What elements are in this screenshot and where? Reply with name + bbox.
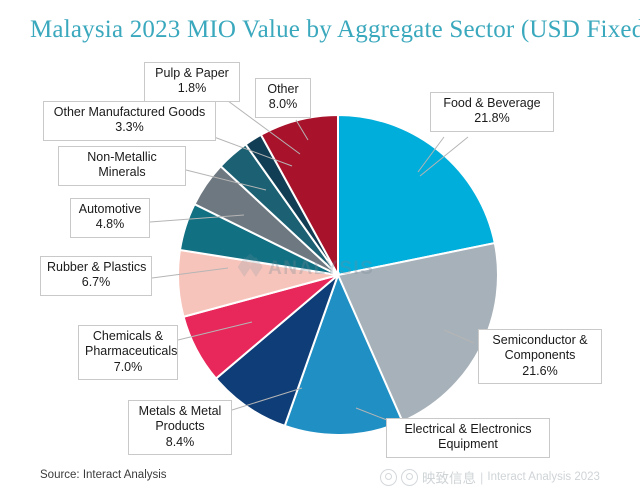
callout-rubber[interactable]: Rubber & Plastics 6.7% [40,256,152,296]
pie-chart [175,112,501,438]
callout-pulp-paper[interactable]: Pulp & Paper 1.8% [144,62,240,102]
callout-rubber-percent: 6.7% [47,275,145,290]
callout-semiconductor-label-line1: Semiconductor & [485,333,595,348]
callout-other-label: Other [262,82,304,97]
callout-metals-percent: 8.4% [135,435,225,450]
callout-non-metallic-label-line1: Non-Metallic [65,150,179,165]
callout-electrical-label-line2: Equipment [393,437,543,452]
callout-metals-label-line1: Metals & Metal [135,404,225,419]
callout-chemicals[interactable]: Chemicals & Pharmaceuticals 7.0% [78,325,178,380]
callout-non-metallic[interactable]: Non-Metallic Minerals [58,146,186,186]
callout-automotive-label: Automotive [77,202,143,217]
callout-other[interactable]: Other 8.0% [255,78,311,118]
footer-watermark-separator: | [480,470,483,485]
callout-other-percent: 8.0% [262,97,304,112]
callout-semiconductor[interactable]: Semiconductor & Components 21.6% [478,329,602,384]
page-title: Malaysia 2023 MIO Value by Aggregate Sec… [30,16,640,44]
callout-chemicals-percent: 7.0% [85,360,171,375]
callout-pulp-paper-percent: 1.8% [151,81,233,96]
footer-watermark-cn: 映致信息 [422,467,476,487]
pie-chart-svg [175,112,501,438]
callout-metals-label-line2: Products [135,419,225,434]
callout-chemicals-label-line1: Chemicals & [85,329,171,344]
pie-chart-figure: Malaysia 2023 MIO Value by Aggregate Sec… [0,0,640,497]
callout-other-manufactured[interactable]: Other Manufactured Goods 3.3% [43,101,216,141]
callout-other-manufactured-percent: 3.3% [50,120,209,135]
callout-non-metallic-label-line2: Minerals [65,165,179,180]
paw-badge-icon [380,469,397,486]
callout-electrical-label-line1: Electrical & Electronics [393,422,543,437]
callout-food-beverage[interactable]: Food & Beverage 21.8% [430,92,554,132]
callout-semiconductor-percent: 21.6% [485,364,595,379]
callout-metals[interactable]: Metals & Metal Products 8.4% [128,400,232,455]
callout-automotive[interactable]: Automotive 4.8% [70,198,150,238]
callout-electrical[interactable]: Electrical & Electronics Equipment [386,418,550,458]
callout-chemicals-label-line2: Pharmaceuticals [85,344,171,359]
callout-automotive-percent: 4.8% [77,217,143,232]
pie-slices [178,115,498,435]
callout-pulp-paper-label: Pulp & Paper [151,66,233,81]
source-note: Source: Interact Analysis [40,469,167,481]
callout-food-beverage-percent: 21.8% [437,111,547,126]
callout-other-manufactured-label: Other Manufactured Goods [50,105,209,120]
callout-food-beverage-label: Food & Beverage [437,96,547,111]
footer-watermark-en: Interact Analysis 2023 [487,471,600,483]
at-badge-icon [401,469,418,486]
callout-semiconductor-label-line2: Components [485,348,595,363]
footer-watermark: 映致信息 | Interact Analysis 2023 [380,466,600,488]
callout-rubber-label: Rubber & Plastics [47,260,145,275]
